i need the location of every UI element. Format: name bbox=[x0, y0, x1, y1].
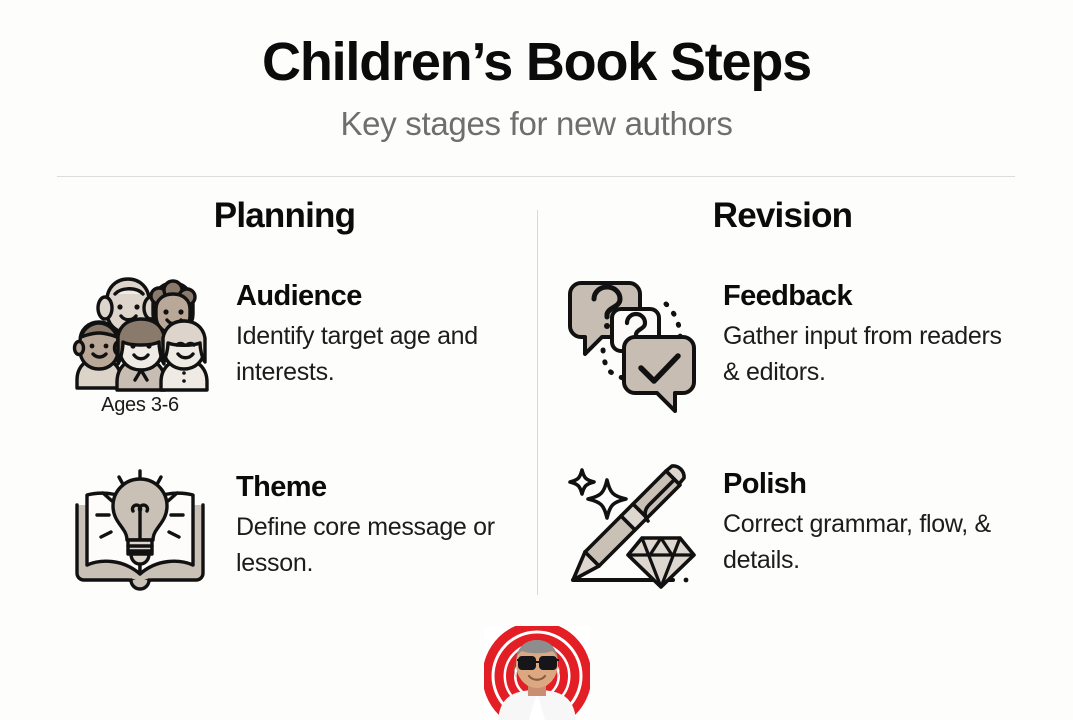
step-desc-polish: Correct grammar, flow, & details. bbox=[723, 507, 1018, 578]
page-subtitle: Key stages for new authors bbox=[0, 105, 1073, 143]
theme-icon-wrap bbox=[60, 461, 220, 595]
column-planning: Planning bbox=[0, 196, 537, 606]
column-heading-revision: Revision bbox=[557, 196, 1018, 236]
avatar-image bbox=[484, 626, 590, 720]
author-photo-avatar[interactable] bbox=[484, 626, 590, 720]
audience-icon-wrap: Ages 3-6 bbox=[60, 270, 220, 417]
page-header: Children’s Book Steps Key stages for new… bbox=[0, 0, 1073, 143]
book-lightbulb-icon bbox=[69, 467, 211, 595]
step-row-audience[interactable]: Ages 3-6 Audience Identify target age an… bbox=[60, 270, 527, 417]
header-divider bbox=[57, 176, 1015, 177]
feedback-icon-wrap bbox=[557, 270, 707, 414]
pen-sparkle-diamond-icon bbox=[562, 462, 702, 594]
step-row-feedback[interactable]: Feedback Gather input from readers & edi… bbox=[557, 270, 1018, 414]
audience-icon-caption: Ages 3-6 bbox=[101, 394, 179, 417]
column-heading-planning: Planning bbox=[60, 196, 527, 236]
speech-bubbles-feedback-icon bbox=[562, 274, 702, 414]
step-desc-feedback: Gather input from readers & editors. bbox=[723, 319, 1018, 390]
step-title-audience: Audience bbox=[236, 280, 527, 313]
step-title-polish: Polish bbox=[723, 468, 1018, 501]
page-title: Children’s Book Steps bbox=[0, 34, 1073, 91]
polish-icon-wrap bbox=[557, 458, 707, 594]
polish-text: Polish Correct grammar, flow, & details. bbox=[707, 458, 1018, 578]
step-row-theme[interactable]: Theme Define core message or lesson. bbox=[60, 461, 527, 595]
children-group-icon bbox=[71, 274, 209, 392]
step-row-polish[interactable]: Polish Correct grammar, flow, & details. bbox=[557, 458, 1018, 594]
feedback-text: Feedback Gather input from readers & edi… bbox=[707, 270, 1018, 390]
step-title-feedback: Feedback bbox=[723, 280, 1018, 313]
column-revision: Revision bbox=[537, 196, 1073, 606]
columns-container: Planning bbox=[0, 196, 1073, 606]
step-desc-theme: Define core message or lesson. bbox=[236, 510, 527, 581]
audience-text: Audience Identify target age and interes… bbox=[220, 270, 527, 390]
step-desc-audience: Identify target age and interests. bbox=[236, 319, 527, 390]
step-title-theme: Theme bbox=[236, 471, 527, 504]
theme-text: Theme Define core message or lesson. bbox=[220, 461, 527, 581]
